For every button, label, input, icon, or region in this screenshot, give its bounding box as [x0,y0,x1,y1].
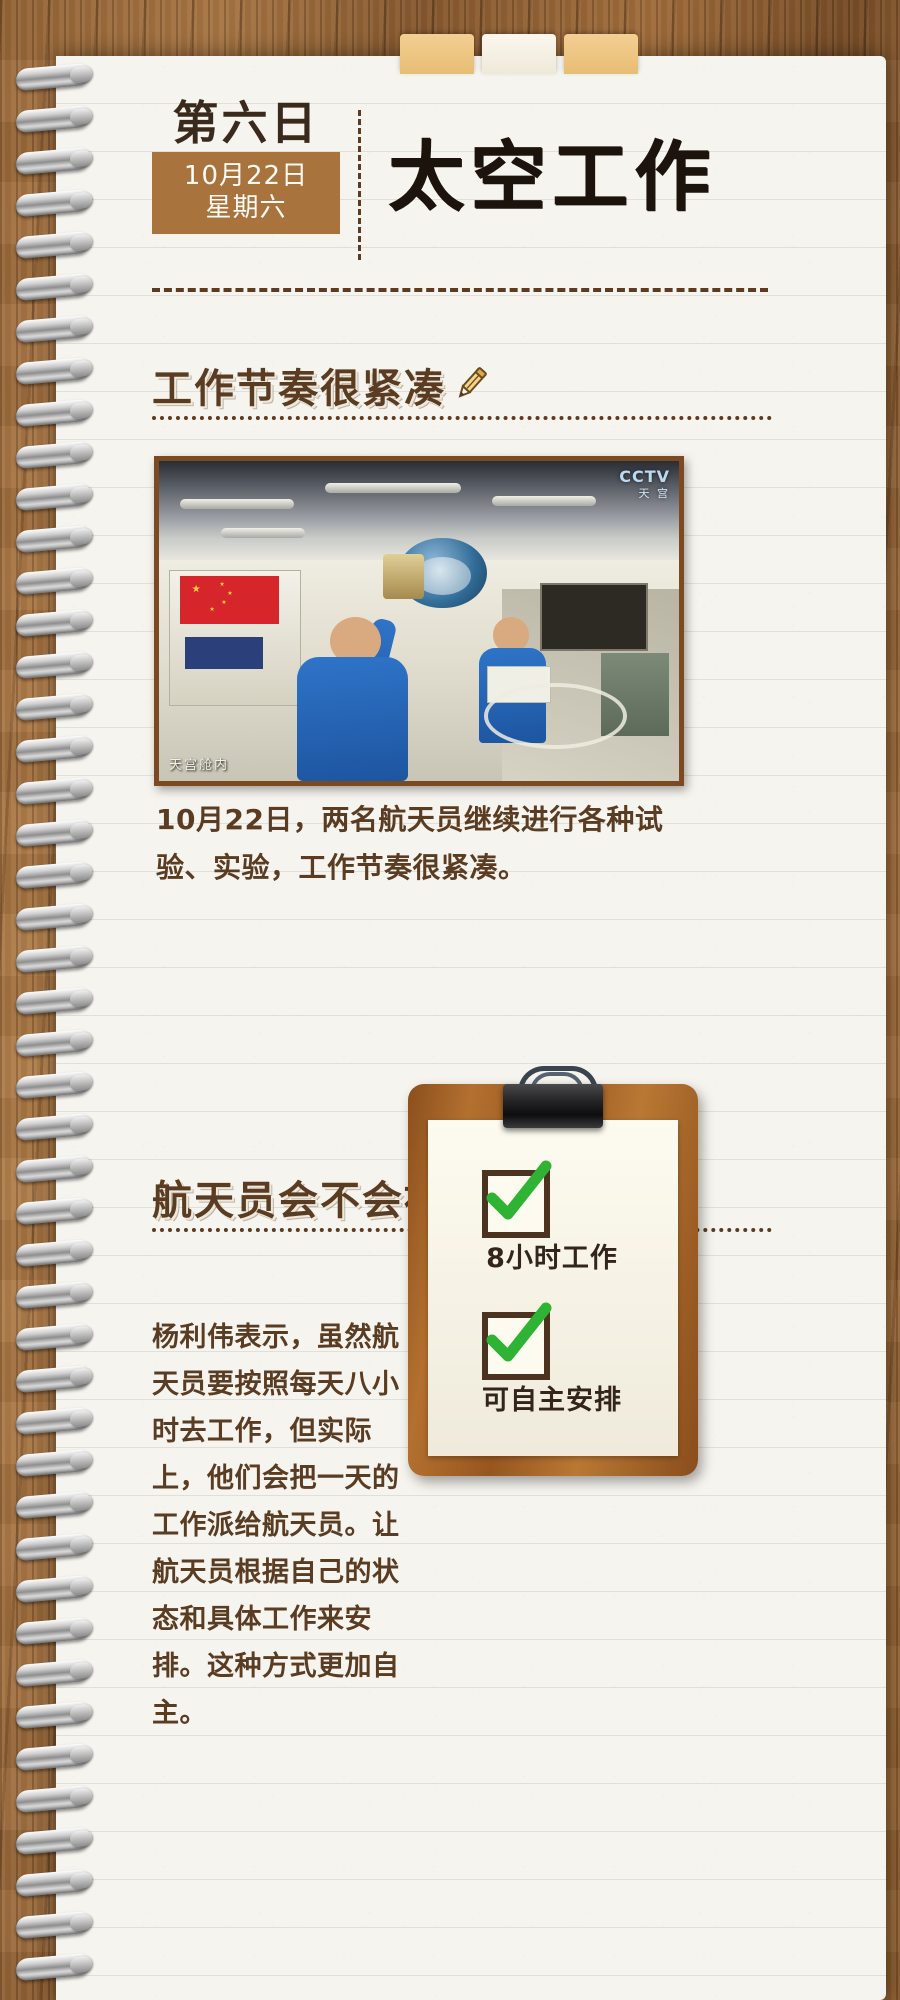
spiral-ring [16,441,90,469]
spiral-ring [16,1575,90,1603]
spiral-ring [16,651,90,679]
spiral-ring [16,1323,90,1351]
spiral-ring [16,105,90,133]
spiral-ring [16,1491,90,1519]
spiral-ring [16,1533,90,1561]
photo-caption: 10月22日，两名航天员继续进行各种试验、实验，工作节奏很紧凑。 [156,796,686,892]
spiral-ring [16,399,90,427]
spiral-ring [16,1785,90,1813]
spiral-ring [16,1701,90,1729]
page-title: 太空工作 [388,134,716,220]
spiral-ring [16,1239,90,1267]
spiral-ring [16,147,90,175]
spiral-ring [16,567,90,595]
section-1-underline [152,416,772,420]
spiral-ring [16,609,90,637]
photo-watermark: CCTV 天 宫 [619,469,670,501]
spiral-ring [16,1827,90,1855]
checklist-label-2: 可自主安排 [452,1378,652,1417]
notebook-page: 第六日 10月22日 星期六 太空工作 工作节奏很紧凑 [56,56,886,2000]
section-1-title: 工作节奏很紧凑 [152,356,446,414]
check-icon [476,1154,558,1236]
binder-clip-icon [503,1084,603,1128]
spiral-ring [16,1743,90,1771]
day-label: 第六日 [152,96,340,150]
date-text: 10月22日 [158,160,334,192]
spiral-ring [16,1869,90,1897]
checklist-item[interactable]: 8小时工作 [428,1170,678,1270]
spiral-ring [16,189,90,217]
spiral-ring [16,525,90,553]
clipboard-board: 8小时工作 可自主安排 [408,1084,698,1476]
spiral-ring [16,1617,90,1645]
spiral-ring [16,1407,90,1435]
spiral-ring [16,315,90,343]
pencil-icon [450,362,492,404]
clipboard: 8小时工作 可自主安排 [408,1066,698,1476]
spiral-ring [16,1281,90,1309]
spiral-ring [16,1953,90,1981]
spiral-ring [16,357,90,385]
spiral-ring [16,903,90,931]
spiral-ring [16,693,90,721]
spiral-ring [16,735,90,763]
spiral-ring [16,1197,90,1225]
photo-watermark-main: CCTV [619,467,670,486]
header-divider [358,110,361,260]
spiral-ring [16,1449,90,1477]
day-badge: 第六日 10月22日 星期六 [152,96,340,234]
checkbox-1[interactable] [482,1170,550,1238]
checkbox-2[interactable] [482,1312,550,1380]
spiral-ring [16,819,90,847]
checklist-item[interactable]: 可自主安排 [428,1312,678,1412]
spiral-ring [16,231,90,259]
spiral-ring [16,945,90,973]
spiral-ring [16,1155,90,1183]
clipboard-paper: 8小时工作 可自主安排 [428,1120,678,1456]
spiral-ring [16,861,90,889]
spiral-ring [16,987,90,1015]
checklist-label-1: 8小时工作 [452,1236,652,1275]
spiral-ring [16,273,90,301]
spiral-ring [16,1113,90,1141]
spiral-ring [16,1029,90,1057]
spiral-binding [14,56,110,2000]
spiral-ring [16,777,90,805]
date-chip: 10月22日 星期六 [152,152,340,234]
page-header: 第六日 10月22日 星期六 太空工作 [130,96,830,286]
body-paragraph: 杨利伟表示，虽然航天员要按照每天八小时去工作，但实际上，他们会把一天的工作派给航… [152,1314,400,1737]
spiral-ring [16,1071,90,1099]
spiral-ring [16,1659,90,1687]
photo-watermark-sub: 天 宫 [639,487,671,500]
section-heading-1: 工作节奏很紧凑 [152,356,772,420]
station-photo-frame: ★ ★ ★ ★ ★ [154,456,684,786]
notebook: 第六日 10月22日 星期六 太空工作 工作节奏很紧凑 [14,56,886,2000]
check-icon [476,1296,558,1378]
spiral-ring [16,1365,90,1393]
spiral-ring [16,63,90,91]
weekday-text: 星期六 [158,192,334,224]
spiral-ring [16,483,90,511]
header-dashed-rule [152,288,768,292]
spiral-ring [16,1911,90,1939]
photo-caption-overlay: 天宫舱内 [169,754,229,773]
station-photo: ★ ★ ★ ★ ★ [159,461,679,781]
